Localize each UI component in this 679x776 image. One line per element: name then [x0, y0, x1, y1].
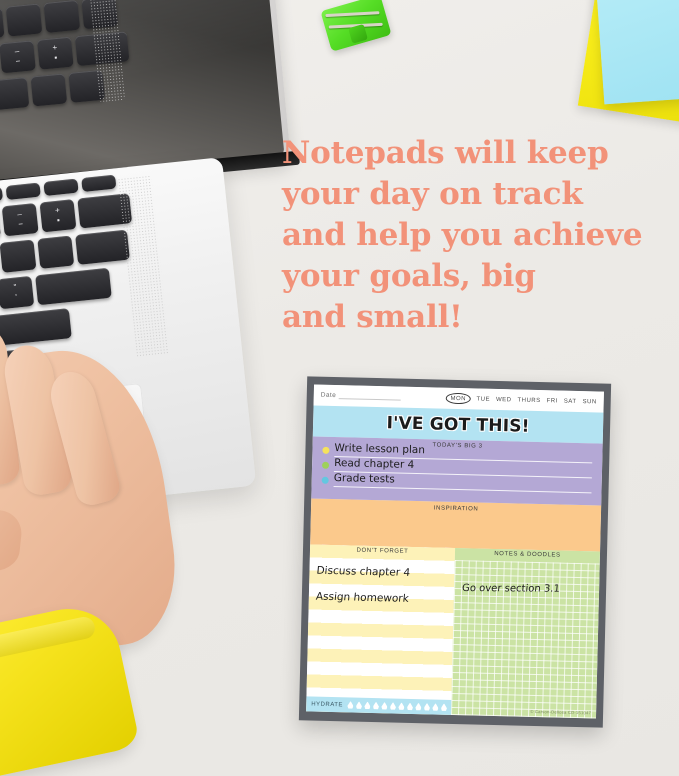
water-drop-icon[interactable]: [364, 701, 370, 709]
key-backslash[interactable]: [75, 230, 130, 265]
bullet-dot-green: [322, 462, 329, 469]
day-thurs[interactable]: THURS: [517, 397, 540, 404]
dont-forget-item[interactable]: Discuss chapter 4: [315, 558, 450, 587]
key-minus[interactable]: –−: [2, 203, 39, 236]
key-bracket-left[interactable]: [0, 239, 36, 272]
dont-forget-item[interactable]: [313, 636, 448, 665]
key-bracket-right[interactable]: [37, 235, 74, 268]
notepad[interactable]: Date MON TUE WED THURS FRI SAT SUN I'VE …: [299, 376, 611, 727]
key-plus-upper[interactable]: +▪: [37, 37, 74, 70]
big3-item[interactable]: Grade tests: [322, 472, 592, 494]
water-drop-icon[interactable]: [424, 703, 430, 711]
day-sat[interactable]: SAT: [564, 398, 577, 404]
date-label: Date: [321, 392, 337, 399]
key-blank-8[interactable]: [30, 73, 67, 106]
day-fri[interactable]: FRI: [547, 398, 558, 404]
dont-forget-list: Discuss chapter 4 Assign homework: [313, 558, 450, 717]
key-blank-1[interactable]: [6, 3, 43, 36]
notepad-lower: DON'T FORGET Discuss chapter 4 Assign ho…: [306, 544, 600, 718]
section-todays-big-3: TODAY'S BIG 3 Write lesson plan Read cha…: [311, 436, 602, 505]
notepad-page: Date MON TUE WED THURS FRI SAT SUN I'VE …: [306, 385, 604, 719]
sticky-note-blue: [596, 0, 679, 104]
big3-text-3: Grade tests: [334, 472, 395, 485]
headline-line-5: and small!: [282, 297, 660, 338]
headline-line-3: and help you achieve: [282, 215, 660, 256]
headline: Notepads will keep your day on track and…: [282, 133, 660, 338]
headline-line-1: Notepads will keep: [282, 133, 660, 174]
hydrate-label: HYDRATE: [311, 701, 343, 708]
water-drop-icon[interactable]: [390, 702, 396, 710]
water-drop-icon[interactable]: [407, 702, 413, 710]
date-input[interactable]: [339, 390, 401, 401]
water-drop-icon[interactable]: [441, 703, 447, 711]
water-drop-icon[interactable]: [398, 702, 404, 710]
key-0[interactable]: 0: [0, 207, 1, 240]
sleeve-cuff: [0, 615, 97, 673]
bullet-dot-blue: [322, 477, 329, 484]
hydrate-tracker[interactable]: HYDRATE: [306, 696, 451, 715]
key-blank-7[interactable]: [0, 77, 29, 110]
water-drop-icon[interactable]: [373, 702, 379, 710]
water-drop-icon[interactable]: [356, 701, 362, 709]
day-selector: MON TUE WED THURS FRI SAT SUN: [446, 393, 597, 408]
notes-label: NOTES & DOODLES: [455, 550, 600, 560]
section-dont-forget[interactable]: DON'T FORGET Discuss chapter 4 Assign ho…: [306, 544, 455, 714]
key-blank-2[interactable]: [43, 0, 80, 33]
key-b-upper[interactable]: b: [0, 7, 5, 40]
section-notes-doodles[interactable]: NOTES & DOODLES Go over section 3.1 © Ca…: [451, 548, 600, 718]
bullet-dot-yellow: [322, 447, 329, 454]
water-drop-icon[interactable]: [415, 703, 421, 711]
water-drop-icon[interactable]: [432, 703, 438, 711]
binder-clip: [320, 0, 391, 52]
day-mon[interactable]: MON: [446, 393, 471, 405]
key-minus-upper[interactable]: –−: [0, 40, 36, 73]
day-wed[interactable]: WED: [496, 396, 512, 402]
dont-forget-item[interactable]: [313, 662, 448, 691]
dont-forget-item[interactable]: [314, 610, 449, 639]
desk-scene: O b 0 –− +▪: [0, 0, 679, 776]
water-drop-icon[interactable]: [347, 701, 353, 709]
headline-line-2: your day on track: [282, 174, 660, 215]
day-sun[interactable]: SUN: [582, 399, 596, 405]
day-tue[interactable]: TUE: [476, 396, 490, 402]
headline-line-4: your goals, big: [282, 256, 660, 297]
section-inspiration[interactable]: INSPIRATION: [310, 498, 601, 551]
big3-list: Write lesson plan Read chapter 4 Grade t…: [312, 441, 603, 493]
water-drop-icon[interactable]: [381, 702, 387, 710]
dont-forget-label: DON'T FORGET: [310, 546, 455, 556]
dont-forget-item[interactable]: Assign homework: [315, 584, 450, 613]
key-plus[interactable]: +▪: [39, 199, 76, 232]
page-title: I'VE GOT THIS!: [386, 413, 530, 436]
notes-text: Go over section 3.1: [462, 583, 561, 595]
